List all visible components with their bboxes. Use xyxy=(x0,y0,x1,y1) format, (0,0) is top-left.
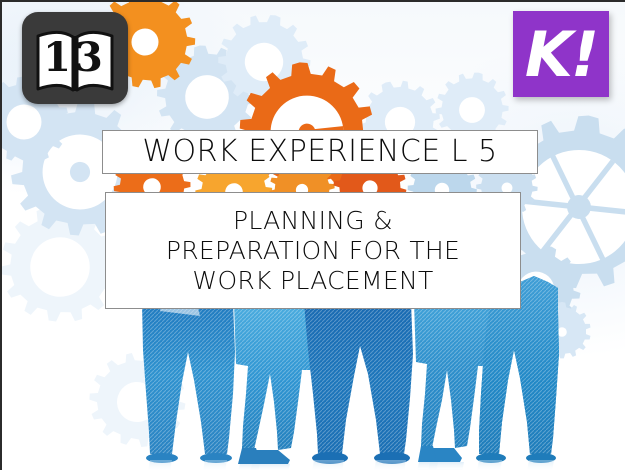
subtitle-line-1: PLANNING & xyxy=(233,206,393,236)
page-title: WORK EXPERIENCE L 5 xyxy=(142,137,497,167)
book-badge-number: 13 xyxy=(22,38,128,78)
book-badge: 13 xyxy=(22,12,128,104)
subtitle-line-2: PREPARATION FOR THE xyxy=(166,236,460,266)
silhouette-reflections xyxy=(148,460,554,470)
kahoot-logo-icon: K! xyxy=(513,11,609,97)
title-box: WORK EXPERIENCE L 5 xyxy=(102,130,538,174)
subtitle-line-3: WORK PLACEMENT xyxy=(192,266,433,296)
kahoot-logo-text: K! xyxy=(513,13,609,97)
slide-canvas: 13 K! WORK EXPERIENCE L 5 PLANNING & PRE… xyxy=(0,0,625,470)
subtitle-box: PLANNING & PREPARATION FOR THE WORK PLAC… xyxy=(105,192,521,309)
